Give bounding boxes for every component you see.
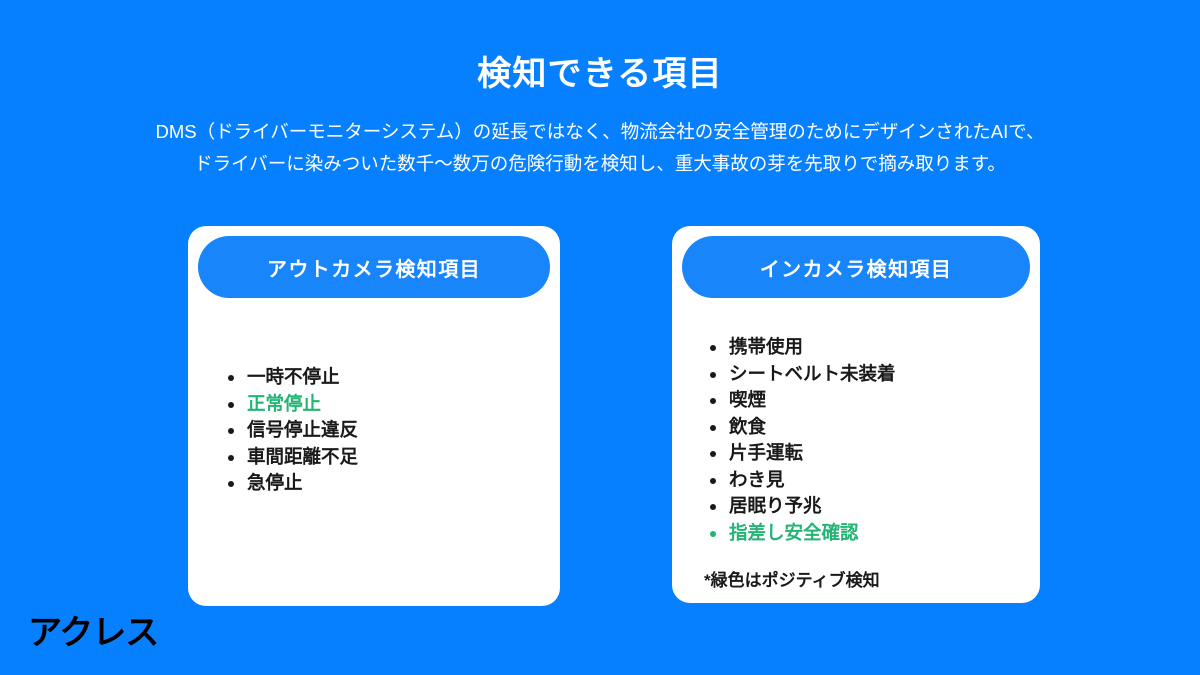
card-inside-camera: インカメラ検知項目 携帯使用 シートベルト未装着 喫煙 飲食 片手運転 わき見 …: [672, 226, 1040, 603]
list-item: 急停止: [222, 470, 358, 497]
list-item: 喫煙: [704, 387, 896, 414]
subtitle-line-1: DMS（ドライバーモニターシステム）の延長ではなく、物流会社の安全管理のためにデ…: [0, 116, 1200, 148]
card-outside-camera: アウトカメラ検知項目 一時不停止 正常停止 信号停止違反 車間距離不足 急停止: [188, 226, 560, 606]
page-subtitle: DMS（ドライバーモニターシステム）の延長ではなく、物流会社の安全管理のためにデ…: [0, 116, 1200, 180]
list-item: 居眠り予兆: [704, 493, 896, 520]
subtitle-line-2: ドライバーに染みついた数千〜数万の危険行動を検知し、重大事故の芽を先取りで摘み取…: [0, 148, 1200, 180]
list-item: 指差し安全確認: [704, 520, 896, 547]
card-header-outside-camera: アウトカメラ検知項目: [198, 236, 550, 298]
list-item: 飲食: [704, 414, 896, 441]
list-item: シートベルト未装着: [704, 361, 896, 388]
list-item: 正常停止: [222, 391, 358, 418]
card-header-label-inside-camera: インカメラ検知項目: [760, 253, 953, 282]
acless-wordmark-logo: アクレス: [28, 610, 178, 654]
list-item: わき見: [704, 467, 896, 494]
card-header-inside-camera: インカメラ検知項目: [682, 236, 1030, 298]
list-item: 一時不停止: [222, 364, 358, 391]
slide-root: 検知できる項目 DMS（ドライバーモニターシステム）の延長ではなく、物流会社の安…: [0, 0, 1200, 675]
list-item: 信号停止違反: [222, 417, 358, 444]
card-header-label-outside-camera: アウトカメラ検知項目: [267, 253, 481, 282]
detection-list-outside-camera: 一時不停止 正常停止 信号停止違反 車間距離不足 急停止: [222, 364, 358, 497]
list-item: 携帯使用: [704, 334, 896, 361]
list-item: 片手運転: [704, 440, 896, 467]
list-item: 車間距離不足: [222, 444, 358, 471]
positive-detection-footnote: *緑色はポジティブ検知: [704, 566, 880, 591]
page-title: 検知できる項目: [0, 53, 1200, 96]
svg-text:アクレス: アクレス: [28, 614, 158, 652]
detection-list-inside-camera: 携帯使用 シートベルト未装着 喫煙 飲食 片手運転 わき見 居眠り予兆 指差し安…: [704, 334, 896, 546]
